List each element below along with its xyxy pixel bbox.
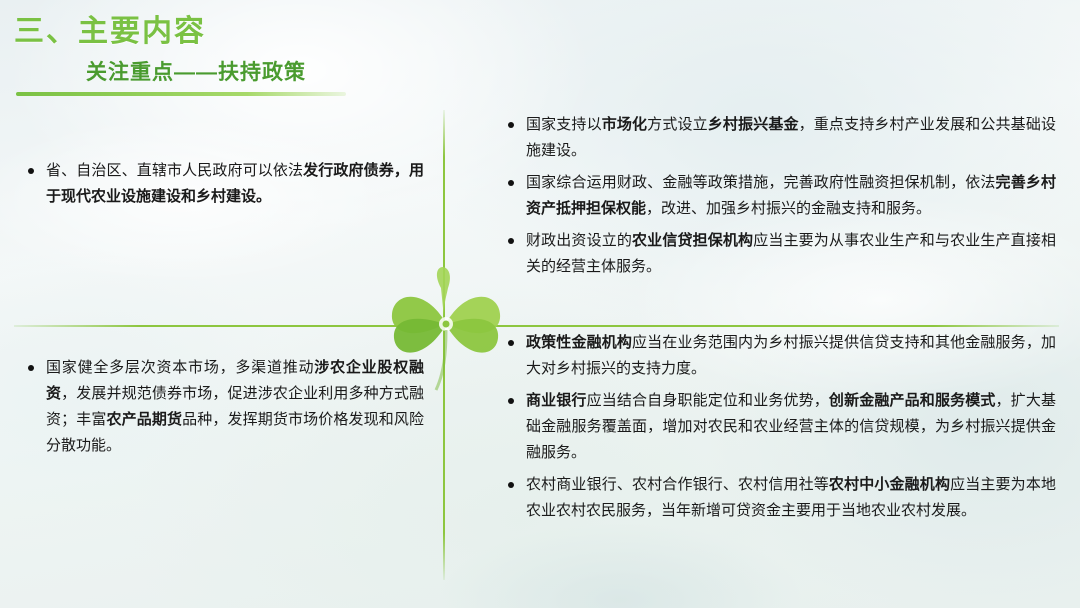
body-text: 国家健全多层次资本市场，多渠道推动 — [46, 359, 314, 376]
list-item: 农村商业银行、农村合作银行、农村信用社等农村中小金融机构应当主要为本地农业农村农… — [504, 472, 1056, 524]
emphasis-text: 政策性金融机构 — [526, 334, 632, 351]
bullet-list-bottom-left: 国家健全多层次资本市场，多渠道推动涉农企业股权融资，发展并规范债券市场，促进涉农… — [24, 355, 424, 459]
body-text: ，改进、加强乡村振兴的金融支持和服务。 — [646, 200, 931, 217]
body-text: 应当结合自身职能定位和业务优势， — [587, 392, 829, 409]
content-block-top-left: 省、自治区、直辖市人民政府可以依法发行政府债券，用于现代农业设施建设和乡村建设。 — [24, 158, 424, 216]
body-text: 财政出资设立的 — [526, 232, 632, 249]
content-block-bottom-left: 国家健全多层次资本市场，多渠道推动涉农企业股权融资，发展并规范债券市场，促进涉农… — [24, 355, 424, 465]
body-text: 省、自治区、直辖市人民政府可以依法 — [46, 162, 303, 179]
body-text: 农村商业银行、农村合作银行、农村信用社等 — [526, 476, 829, 493]
content-block-top-right: 国家支持以市场化方式设立乡村振兴基金，重点支持乡村产业发展和公共基础设施建设。国… — [504, 112, 1056, 286]
list-item: 国家综合运用财政、金融等政策措施，完善政府性融资担保机制，依法完善乡村资产抵押担… — [504, 170, 1056, 222]
list-item: 国家健全多层次资本市场，多渠道推动涉农企业股权融资，发展并规范债券市场，促进涉农… — [24, 355, 424, 459]
list-item: 商业银行应当结合自身职能定位和业务优势，创新金融产品和服务模式，扩大基础金融服务… — [504, 388, 1056, 466]
list-item: 国家支持以市场化方式设立乡村振兴基金，重点支持乡村产业发展和公共基础设施建设。 — [504, 112, 1056, 164]
emphasis-text: 农村中小金融机构 — [829, 476, 950, 493]
emphasis-text: 创新金融产品和服务模式 — [829, 392, 996, 409]
emphasis-text: 商业银行 — [526, 392, 587, 409]
page-title: 三、主要内容 — [14, 6, 206, 50]
list-item: 省、自治区、直辖市人民政府可以依法发行政府债券，用于现代农业设施建设和乡村建设。 — [24, 158, 424, 210]
slide-header: 三、主要内容 关注重点——扶持政策 — [0, 0, 1080, 104]
bullet-list-top-right: 国家支持以市场化方式设立乡村振兴基金，重点支持乡村产业发展和公共基础设施建设。国… — [504, 112, 1056, 280]
bullet-list-bottom-right: 政策性金融机构应当在业务范围内为乡村振兴提供信贷支持和其他金融服务，加大对乡村振… — [504, 330, 1056, 524]
title-underline — [16, 92, 346, 96]
emphasis-text: 农业信贷担保机构 — [632, 232, 753, 249]
horizontal-divider — [14, 325, 1059, 327]
content-block-bottom-right: 政策性金融机构应当在业务范围内为乡村振兴提供信贷支持和其他金融服务，加大对乡村振… — [504, 330, 1056, 530]
body-text: 国家支持以 — [526, 116, 602, 133]
emphasis-text: 农产品期货 — [107, 411, 183, 428]
bullet-list-top-left: 省、自治区、直辖市人民政府可以依法发行政府债券，用于现代农业设施建设和乡村建设。 — [24, 158, 424, 210]
list-item: 财政出资设立的农业信贷担保机构应当主要为从事农业生产和与农业生产直接相关的经营主… — [504, 228, 1056, 280]
list-item: 政策性金融机构应当在业务范围内为乡村振兴提供信贷支持和其他金融服务，加大对乡村振… — [504, 330, 1056, 382]
emphasis-text: 乡村振兴基金 — [708, 116, 799, 133]
body-text: 国家综合运用财政、金融等政策措施，完善政府性融资担保机制，依法 — [526, 174, 996, 191]
page-subtitle: 关注重点——扶持政策 — [86, 56, 306, 86]
emphasis-text: 市场化 — [602, 116, 647, 133]
body-text: 方式设立 — [647, 116, 708, 133]
